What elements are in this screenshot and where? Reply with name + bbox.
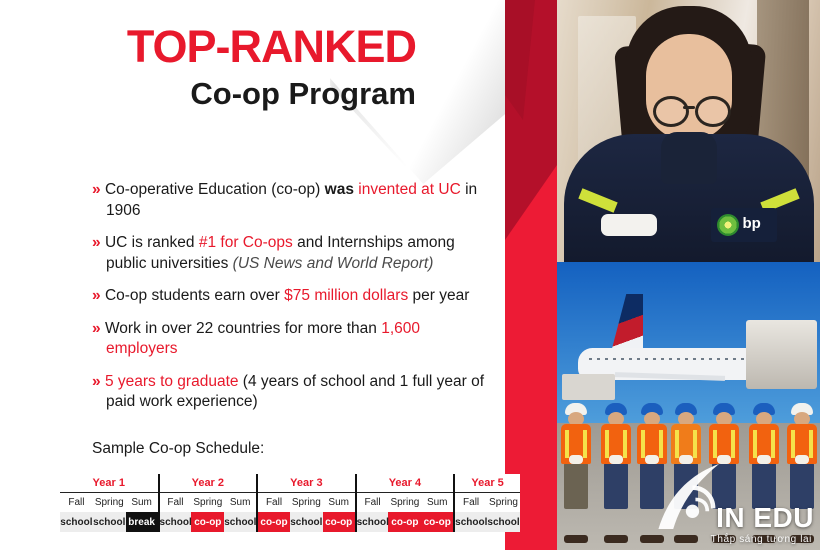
- status-cell-school: school: [224, 512, 257, 532]
- page-subtitle: Co-op Program: [0, 74, 430, 114]
- work-gloves: [609, 455, 623, 464]
- bullet-list: » Co-operative Education (co-op) was inv…: [92, 180, 492, 425]
- work-boots: [674, 535, 698, 543]
- bullet-item-4: » Work in over 22 countries for more tha…: [92, 319, 492, 360]
- year-header-5: Year 5: [454, 474, 520, 493]
- eyeglasses-left-lens: [653, 96, 689, 127]
- work-gloves: [569, 455, 583, 464]
- status-cell-school: school: [356, 512, 389, 532]
- inedu-logo-name: IN EDU: [711, 503, 814, 533]
- season-cell: Spring: [191, 493, 224, 513]
- year-header-4: Year 4: [356, 474, 455, 493]
- year-header-1: Year 1: [60, 474, 159, 493]
- bullet-text-segment: #1 for Co-ops: [199, 234, 293, 251]
- season-cell: Fall: [60, 493, 93, 513]
- name-badge: [601, 214, 657, 236]
- bullet-marker-icon: »: [92, 234, 105, 251]
- season-cell: Fall: [454, 493, 487, 513]
- season-cell: Spring: [290, 493, 323, 513]
- page-title: TOP-RANKED: [0, 22, 430, 72]
- bullet-text-segment: per year: [408, 287, 469, 304]
- bullet-marker-icon: »: [92, 287, 105, 304]
- season-cell: Fall: [257, 493, 290, 513]
- coverall-collar: [661, 132, 717, 184]
- bullet-text-segment: 5 years to graduate: [105, 373, 239, 390]
- season-cell: Sum: [323, 493, 356, 513]
- status-cell-coop: co-op: [323, 512, 356, 532]
- status-cell-coop: co-op: [421, 512, 454, 532]
- work-gloves: [757, 455, 771, 464]
- slide-canvas: bp: [0, 0, 820, 550]
- bullet-item-2: » UC is ranked #1 for Co-ops and Interns…: [92, 233, 492, 274]
- status-cell-school: school: [93, 512, 126, 532]
- bullet-marker-icon: »: [92, 181, 105, 198]
- season-cell: Spring: [388, 493, 421, 513]
- status-cell-coop: co-op: [257, 512, 290, 532]
- bp-logo-patch: bp: [711, 208, 777, 242]
- work-boots: [640, 535, 664, 543]
- worker-2: [601, 403, 631, 541]
- bullet-text-segment: Co-op students earn over: [105, 287, 284, 304]
- work-boots: [604, 535, 628, 543]
- status-cell-school: school: [454, 512, 487, 532]
- season-cell: Fall: [356, 493, 389, 513]
- hi-vis-stripe-left: [578, 188, 617, 212]
- season-cell: Spring: [93, 493, 126, 513]
- inedu-logo: IN EDU Thắp sáng tương lai: [711, 503, 814, 546]
- status-cell-coop: co-op: [388, 512, 421, 532]
- bullet-text-segment: UC is ranked: [105, 234, 199, 251]
- bullet-marker-icon: »: [92, 373, 105, 390]
- status-cell-school: school: [487, 512, 520, 532]
- year-header-3: Year 3: [257, 474, 356, 493]
- year-header-2: Year 2: [159, 474, 258, 493]
- student-face: [646, 34, 732, 140]
- bp-wordmark: bp: [743, 215, 761, 233]
- work-gloves: [795, 455, 809, 464]
- bullet-marker-icon: »: [92, 320, 105, 337]
- schedule-table-wrapper: Year 1Year 2Year 3Year 4Year 5 FallSprin…: [60, 474, 520, 532]
- season-cell: Sum: [421, 493, 454, 513]
- bullet-text-segment: was: [325, 181, 359, 198]
- status-cell-school: school: [159, 512, 192, 532]
- bullet-item-1: » Co-operative Education (co-op) was inv…: [92, 180, 492, 221]
- photo-student-bp-coverall: bp: [557, 0, 820, 262]
- aircraft-window-row: [589, 358, 752, 360]
- status-cell-school: school: [290, 512, 323, 532]
- status-cell-break: break: [126, 512, 159, 532]
- season-cell: Fall: [159, 493, 192, 513]
- eyeglasses-bridge: [683, 106, 695, 109]
- bullet-text-segment: $75 million dollars: [284, 287, 408, 304]
- bullet-text-segment: Co-operative Education (co-op): [105, 181, 325, 198]
- inedu-logo-tagline: Thắp sáng tương lai: [711, 533, 814, 546]
- co-op-schedule-table: Year 1Year 2Year 3Year 4Year 5 FallSprin…: [60, 474, 520, 532]
- cargo-loader-truck: [746, 320, 817, 389]
- navy-coverall: bp: [564, 134, 814, 262]
- ground-vehicle: [562, 374, 615, 400]
- schedule-label: Sample Co-op Schedule:: [92, 440, 264, 458]
- status-cell-school: school: [60, 512, 93, 532]
- bullet-text-segment: (US News and World Report): [233, 255, 434, 272]
- work-boots: [564, 535, 588, 543]
- table-row-years: Year 1Year 2Year 3Year 4Year 5: [60, 474, 520, 493]
- status-cell-coop: co-op: [191, 512, 224, 532]
- worker-legs: [604, 463, 628, 509]
- worker-legs: [564, 463, 588, 509]
- bp-helios-icon: [717, 214, 739, 236]
- eyeglasses-right-lens: [695, 96, 731, 127]
- bullet-item-5: » 5 years to graduate (4 years of school…: [92, 372, 492, 413]
- title-block: TOP-RANKED Co-op Program: [0, 22, 430, 114]
- table-row-statuses: schoolschoolbreakschoolco-opschoolco-ops…: [60, 512, 520, 532]
- worker-1: [561, 403, 591, 541]
- bullet-text-segment: Work in over 22 countries for more than: [105, 320, 381, 337]
- bullet-text-segment: invented at UC: [358, 181, 461, 198]
- season-cell: Sum: [224, 493, 257, 513]
- bullet-item-3: » Co-op students earn over $75 million d…: [92, 286, 492, 307]
- season-cell: Spring: [487, 493, 520, 513]
- season-cell: Sum: [126, 493, 159, 513]
- table-row-seasons: FallSpringSumFallSpringSumFallSpringSumF…: [60, 493, 520, 513]
